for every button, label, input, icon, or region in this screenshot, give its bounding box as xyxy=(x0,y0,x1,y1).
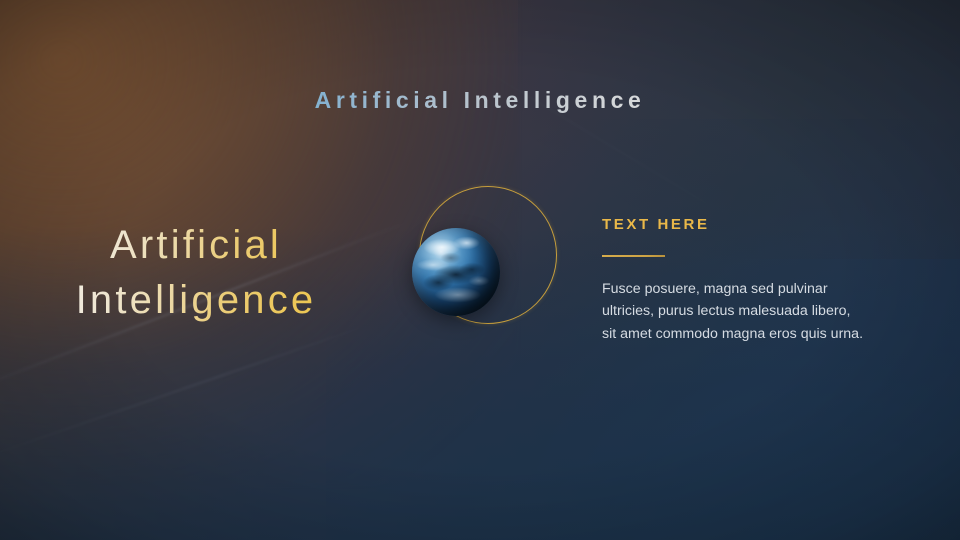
earth-globe-icon xyxy=(412,228,500,316)
globe-graphic xyxy=(400,182,580,340)
info-body-line-3: sit amet commodo magna eros quis urna. xyxy=(602,323,932,346)
info-heading: TEXT HERE xyxy=(602,216,932,234)
globe-shading-layer xyxy=(412,228,500,316)
info-block: TEXT HERE Fusce posuere, magna sed pulvi… xyxy=(602,216,932,345)
hero-title-line-1: Artificial xyxy=(16,218,376,273)
info-body-line-1: Fusce posuere, magna sed pulvinar xyxy=(602,278,932,301)
hero-title: Artificial Intelligence xyxy=(16,218,376,328)
info-body: Fusce posuere, magna sed pulvinar ultric… xyxy=(602,278,932,346)
info-body-line-2: ultricies, purus lectus malesuada libero… xyxy=(602,300,932,323)
slide-top-title: Artificial Intelligence xyxy=(0,88,960,113)
presentation-slide: Artificial Intelligence Artificial Intel… xyxy=(0,0,960,540)
info-divider xyxy=(602,255,665,257)
hero-title-line-2: Intelligence xyxy=(16,273,376,328)
